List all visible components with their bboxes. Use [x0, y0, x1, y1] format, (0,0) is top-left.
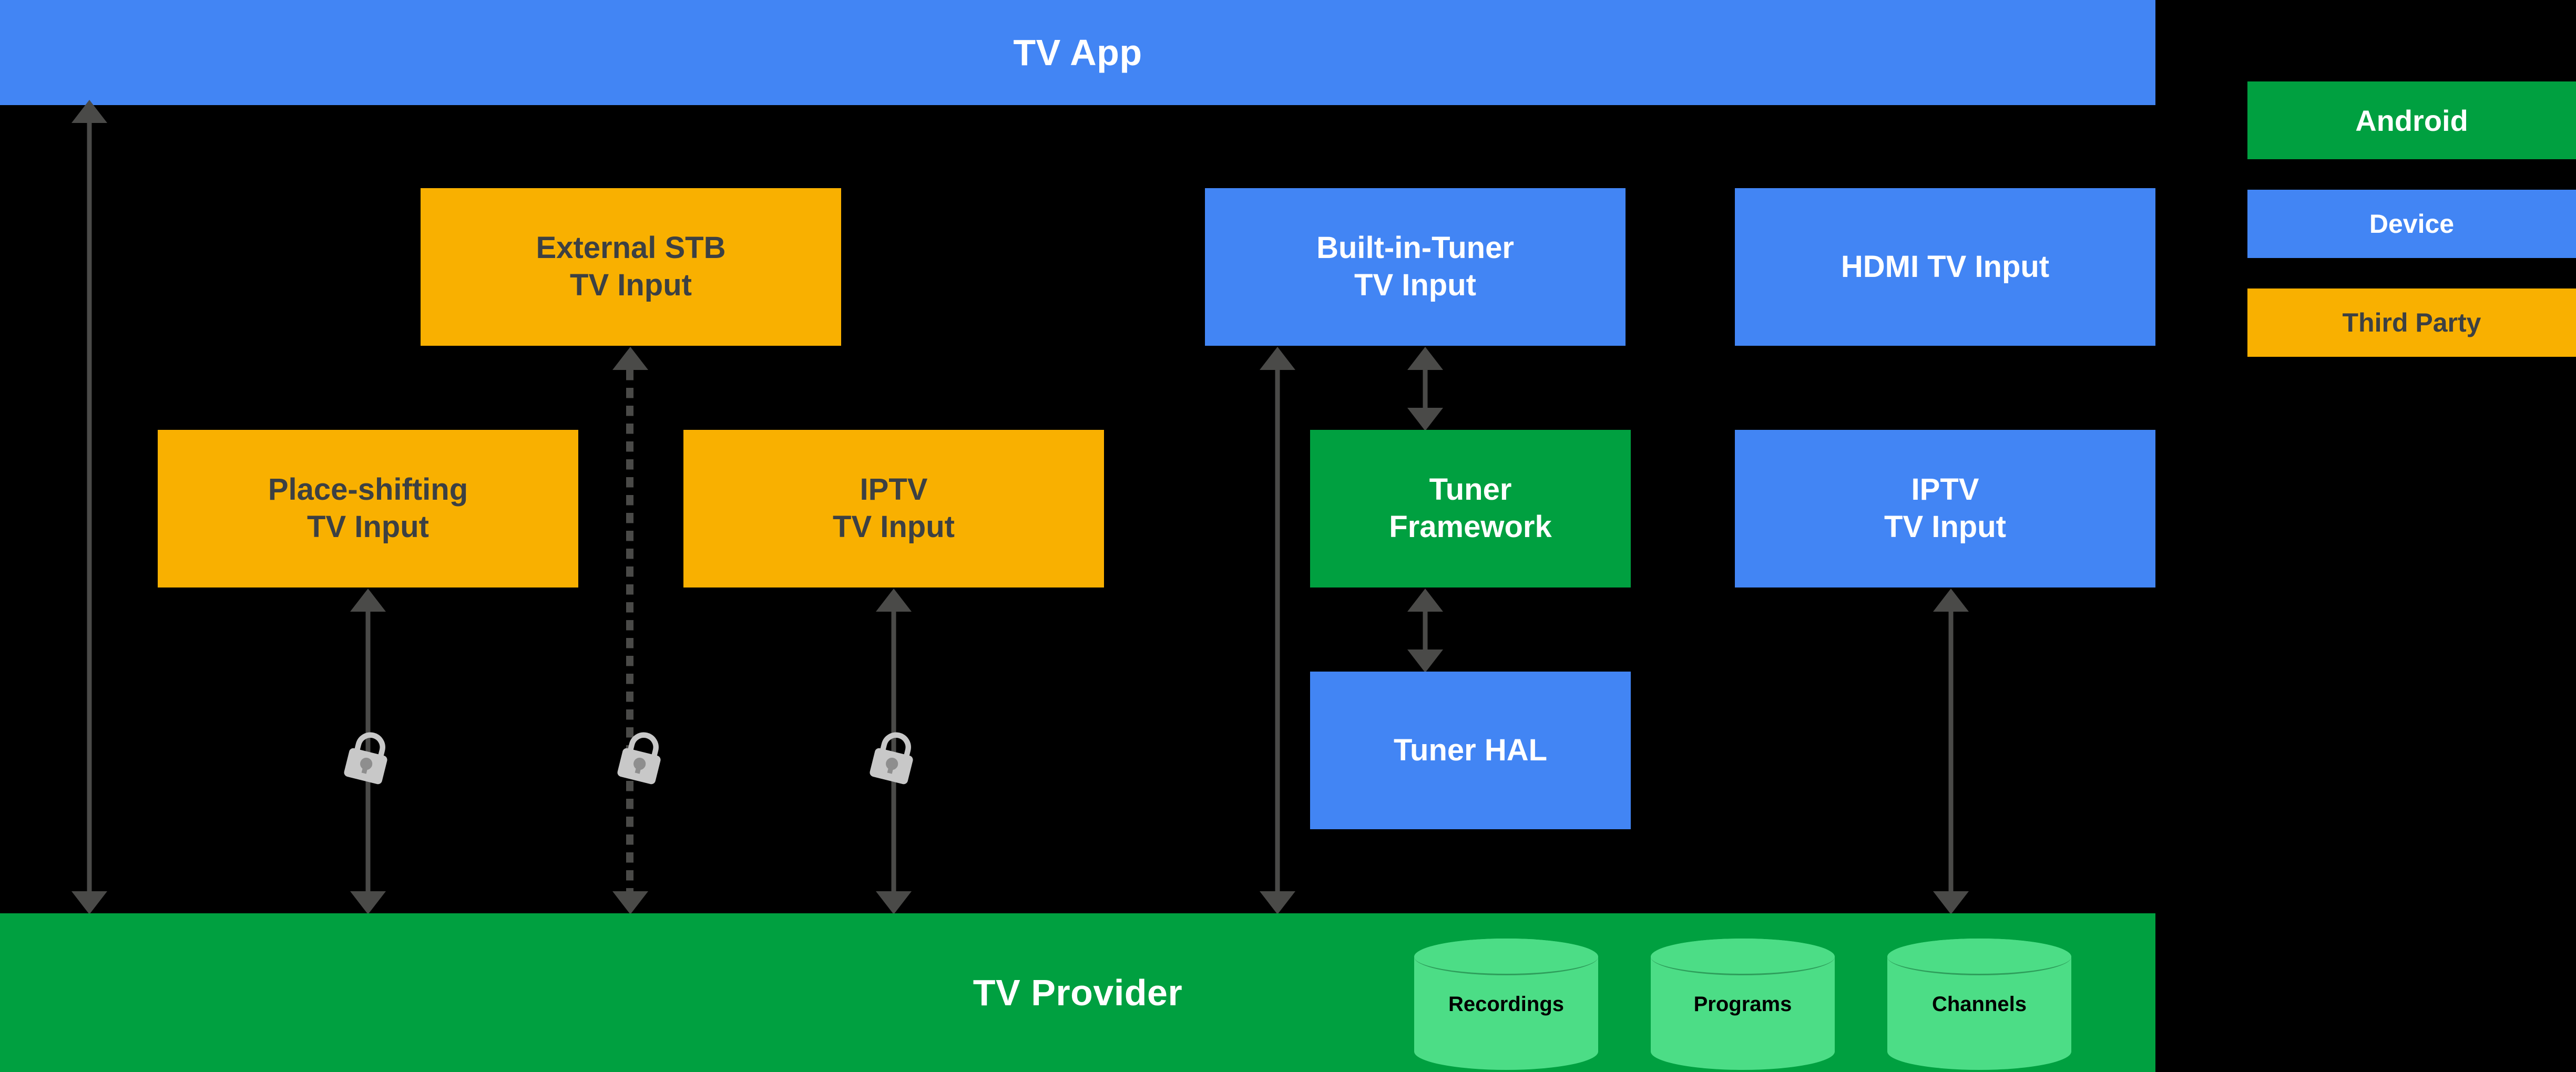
- database-programs[interactable]: Programs: [1651, 939, 1835, 1070]
- arrowhead-down-icon: [350, 891, 386, 914]
- node-label-line1: Built-in-Tuner: [1316, 230, 1514, 267]
- arrowhead-down-icon: [1260, 891, 1295, 914]
- arrowhead-up-icon: [350, 589, 386, 612]
- arrowhead-up-icon: [612, 347, 648, 370]
- node-label-line1: HDMI TV Input: [1841, 249, 2049, 286]
- database-label: Programs: [1651, 939, 1835, 1070]
- node-label-line2: TV Input: [570, 267, 692, 304]
- node-iptv-device[interactable]: IPTV TV Input: [1735, 430, 2155, 587]
- connector-shaft: [1423, 368, 1428, 410]
- arrowhead-up-icon: [876, 589, 912, 612]
- connector-shaft: [1275, 368, 1280, 893]
- node-label-line2: TV Input: [307, 509, 429, 546]
- node-built-in-tuner[interactable]: Built-in-Tuner TV Input: [1205, 188, 1626, 346]
- node-label-line1: IPTV: [1911, 471, 1979, 509]
- arrowhead-up-icon: [1407, 347, 1443, 370]
- connector-shaft: [1423, 610, 1428, 652]
- database-channels[interactable]: Channels: [1887, 939, 2071, 1070]
- arrowhead-down-icon: [1933, 891, 1969, 914]
- node-label-line1: Tuner HAL: [1394, 732, 1547, 769]
- connector-external-stb-to-provider: [612, 347, 649, 914]
- connector-shaft-dashed: [626, 370, 635, 891]
- connector-built-in-tuner-to-tuner-framework: [1407, 347, 1444, 431]
- connector-shaft: [1949, 610, 1954, 893]
- node-label-line2: Framework: [1389, 509, 1551, 546]
- node-iptv-third-party[interactable]: IPTV TV Input: [683, 430, 1104, 587]
- node-tuner-framework[interactable]: Tuner Framework: [1310, 430, 1631, 587]
- node-tuner-hal[interactable]: Tuner HAL: [1310, 672, 1631, 829]
- arrowhead-up-icon: [1933, 589, 1969, 612]
- arrowhead-up-icon: [1407, 589, 1443, 612]
- node-label-line1: External STB: [536, 230, 726, 267]
- node-external-stb[interactable]: External STB TV Input: [421, 188, 841, 346]
- architecture-diagram: TV App: [0, 0, 2576, 1072]
- node-label-line1: IPTV: [860, 471, 928, 509]
- arrowhead-down-icon: [612, 891, 648, 914]
- node-label-line2: TV Input: [1884, 509, 2006, 546]
- legend-label: Device: [2369, 209, 2454, 239]
- node-place-shifting[interactable]: Place-shifting TV Input: [158, 430, 578, 587]
- legend-item-device[interactable]: Device: [2247, 190, 2576, 258]
- arrowhead-down-icon: [1407, 408, 1443, 431]
- legend-label: Third Party: [2343, 307, 2481, 338]
- arrowhead-down-icon: [876, 891, 912, 914]
- connector-tuner-framework-to-tuner-hal: [1407, 589, 1444, 673]
- connector-shaft: [87, 121, 92, 893]
- arrowhead-up-icon: [1260, 347, 1295, 370]
- database-recordings[interactable]: Recordings: [1414, 939, 1598, 1070]
- database-label: Channels: [1887, 939, 2071, 1070]
- node-label-line2: TV Input: [833, 509, 955, 546]
- tv-app-label: TV App: [1013, 32, 1142, 74]
- legend: Android Device Third Party: [2247, 81, 2576, 387]
- node-label-line1: Tuner: [1429, 471, 1512, 509]
- legend-item-android[interactable]: Android: [2247, 81, 2576, 159]
- connector-built-in-tuner-to-provider: [1259, 347, 1296, 914]
- arrowhead-down-icon: [71, 891, 107, 914]
- connector-app-to-provider: [71, 100, 108, 914]
- database-label: Recordings: [1414, 939, 1598, 1070]
- tv-app-band[interactable]: TV App: [0, 0, 2155, 105]
- arrowhead-down-icon: [1407, 650, 1443, 673]
- connector-iptv-device-to-provider: [1933, 589, 1969, 914]
- node-label-line1: Place-shifting: [268, 471, 468, 509]
- legend-item-third-party[interactable]: Third Party: [2247, 288, 2576, 357]
- node-label-line2: TV Input: [1354, 267, 1476, 304]
- node-hdmi-tv-input[interactable]: HDMI TV Input: [1735, 188, 2155, 346]
- legend-label: Android: [2355, 104, 2468, 138]
- arrowhead-up-icon: [71, 100, 107, 123]
